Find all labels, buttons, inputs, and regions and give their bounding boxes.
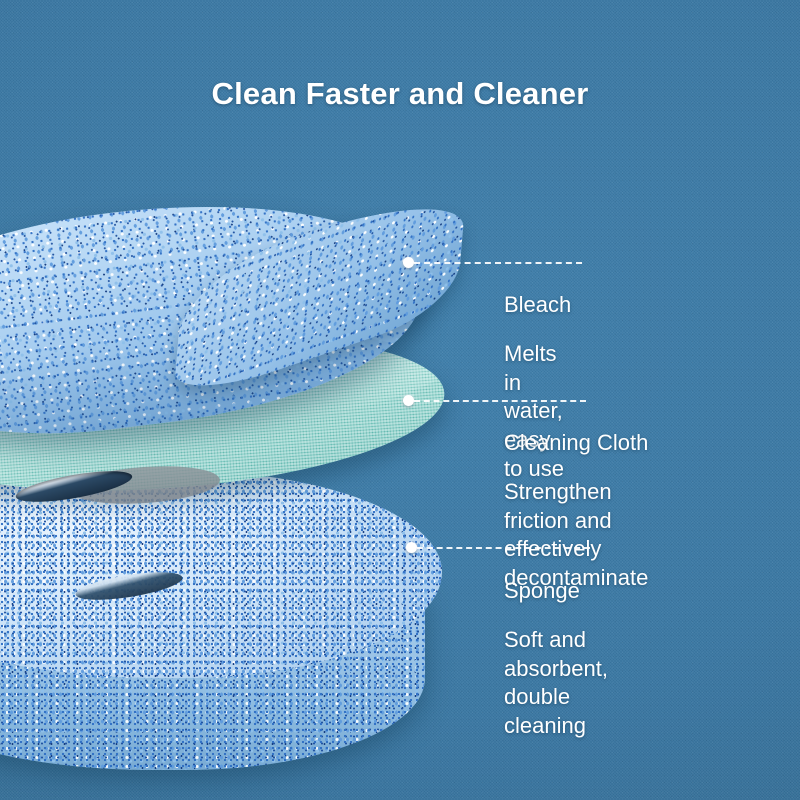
callout-heading-bleach: Bleach xyxy=(504,291,571,320)
callout-description-sponge: Soft and absorbent, double cleaning xyxy=(504,626,608,740)
page-title: Clean Faster and Cleaner xyxy=(0,76,800,112)
callout-dot-cleaning-cloth xyxy=(403,395,414,406)
sponge-layer xyxy=(0,470,450,800)
callout-leader-sponge xyxy=(417,547,590,549)
callout-heading-sponge: Sponge xyxy=(504,577,608,606)
infographic-canvas: Clean Faster and Cleaner xyxy=(0,0,800,800)
callout-label-sponge: Sponge Soft and absorbent, double cleani… xyxy=(504,556,608,761)
callout-leader-bleach xyxy=(414,262,582,264)
callout-leader-cleaning-cloth xyxy=(414,400,586,402)
callout-dot-bleach xyxy=(403,257,414,268)
callout-dot-sponge xyxy=(406,542,417,553)
callout-heading-cleaning-cloth: Cleaning Cloth xyxy=(504,429,648,458)
